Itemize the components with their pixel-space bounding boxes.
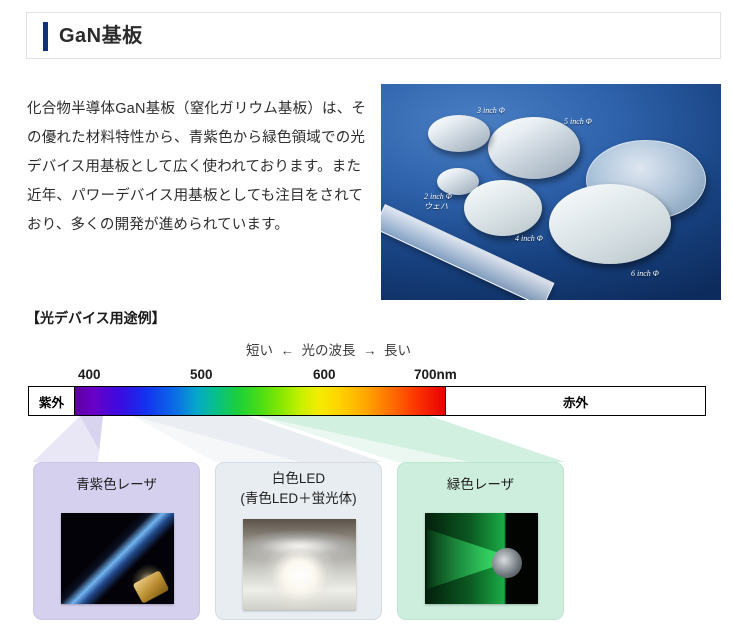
- card-violet-laser-title: 青紫色レーザ: [34, 475, 199, 495]
- tick-label-600: 600: [313, 367, 336, 382]
- wafer-label-2-inch: 2 inch Φ ウェハ: [424, 192, 452, 212]
- tick-label-500: 500: [190, 367, 213, 382]
- intro-paragraph: 化合物半導体GaN基板（窒化ガリウム基板）は、その優れた材料特性から、青紫色から…: [27, 95, 372, 240]
- gan-wafer-photo: 3 inch Φ 5 inch Φ 2 inch Φ ウェハ 4 inch Φ …: [381, 84, 721, 300]
- card-white-led-title: 白色LED (青色LED＋蛍光体): [216, 469, 381, 509]
- wafer-4-inch: [464, 180, 542, 236]
- card-white-led-image: [243, 519, 356, 610]
- page-title: GaN基板: [59, 22, 143, 51]
- ultraviolet-region: 紫外: [29, 387, 75, 415]
- wafer-label-3-inch: 3 inch Φ: [477, 106, 505, 116]
- card-green-laser[interactable]: 緑色レーザ: [397, 462, 564, 620]
- wafer-label-6-inch: 6 inch Φ: [631, 269, 659, 279]
- wafer-label-4-inch: 4 inch Φ: [515, 234, 543, 244]
- spectrum-tick-labels: 400 500 600 700nm: [0, 367, 733, 385]
- laser-header-disc-icon: [492, 548, 522, 578]
- spectrum-bar: 紫外 赤外: [28, 386, 706, 416]
- wafer-6-inch: [549, 184, 671, 264]
- header-accent-bar: [43, 22, 48, 51]
- page-header-box: GaN基板: [26, 12, 721, 59]
- wafer-3-inch: [428, 115, 490, 152]
- optical-device-section-label: 【光デバイス用途例】: [26, 308, 166, 328]
- tick-label-400: 400: [78, 367, 101, 382]
- wafer-label-5-inch: 5 inch Φ: [564, 117, 592, 127]
- visible-spectrum-gradient: [75, 387, 446, 415]
- card-green-laser-image: [425, 513, 538, 604]
- card-violet-laser[interactable]: 青紫色レーザ: [33, 462, 200, 620]
- card-violet-laser-image: [61, 513, 174, 604]
- card-white-led[interactable]: 白色LED (青色LED＋蛍光体): [215, 462, 382, 620]
- card-green-laser-title: 緑色レーザ: [398, 475, 563, 495]
- white-led-glow-graphic: [243, 519, 356, 610]
- wavelength-legend: 短い ← 光の波長 → 長い: [246, 339, 411, 359]
- infrared-region: 赤外: [446, 387, 705, 415]
- tick-label-700nm: 700nm: [414, 367, 457, 382]
